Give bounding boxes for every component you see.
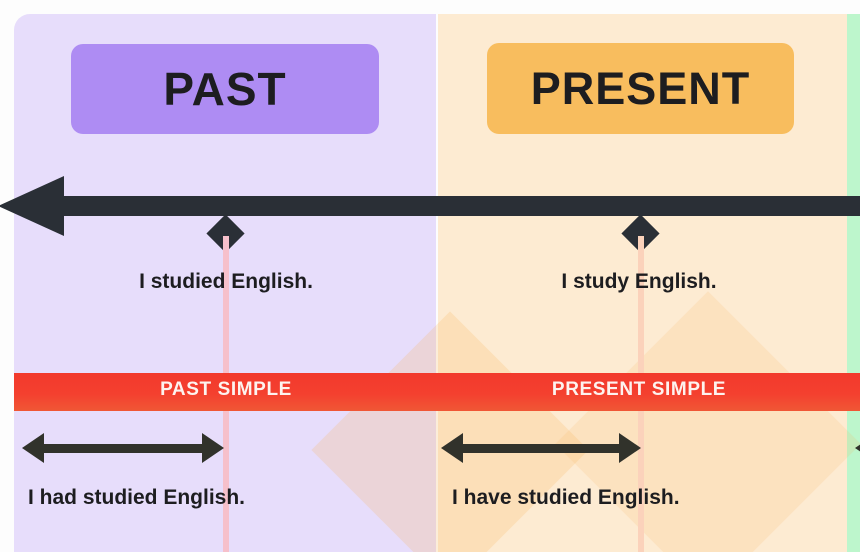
present-perfect-sentence: I have studied English. [452,486,680,510]
past-heading-pill: PAST [71,44,379,134]
double-headed-arrow-icon [441,433,641,463]
future-panel [847,14,860,552]
present-simple-sentence: I study English. [561,270,716,294]
arrow-bar [38,444,208,453]
arrow-tip-right [202,433,224,463]
double-headed-arrow-icon [855,433,860,463]
present-simple-band-label: PRESENT SIMPLE [552,379,726,401]
arrow-tip-right [619,433,641,463]
past-simple-sentence: I studied English. [139,270,313,294]
timeline-arrow-shaft [60,196,860,216]
timeline-diagram: PAST PRESENT I studied English. I study … [0,0,860,552]
double-headed-arrow-icon [22,433,224,463]
arrow-bar [457,444,625,453]
tense-label-band [14,373,860,411]
past-perfect-sentence: I had studied English. [28,486,245,510]
present-heading-pill: PRESENT [487,43,794,134]
left-arrow-icon [0,176,64,236]
past-simple-band-label: PAST SIMPLE [160,379,292,401]
arrow-tip-left [855,433,860,463]
